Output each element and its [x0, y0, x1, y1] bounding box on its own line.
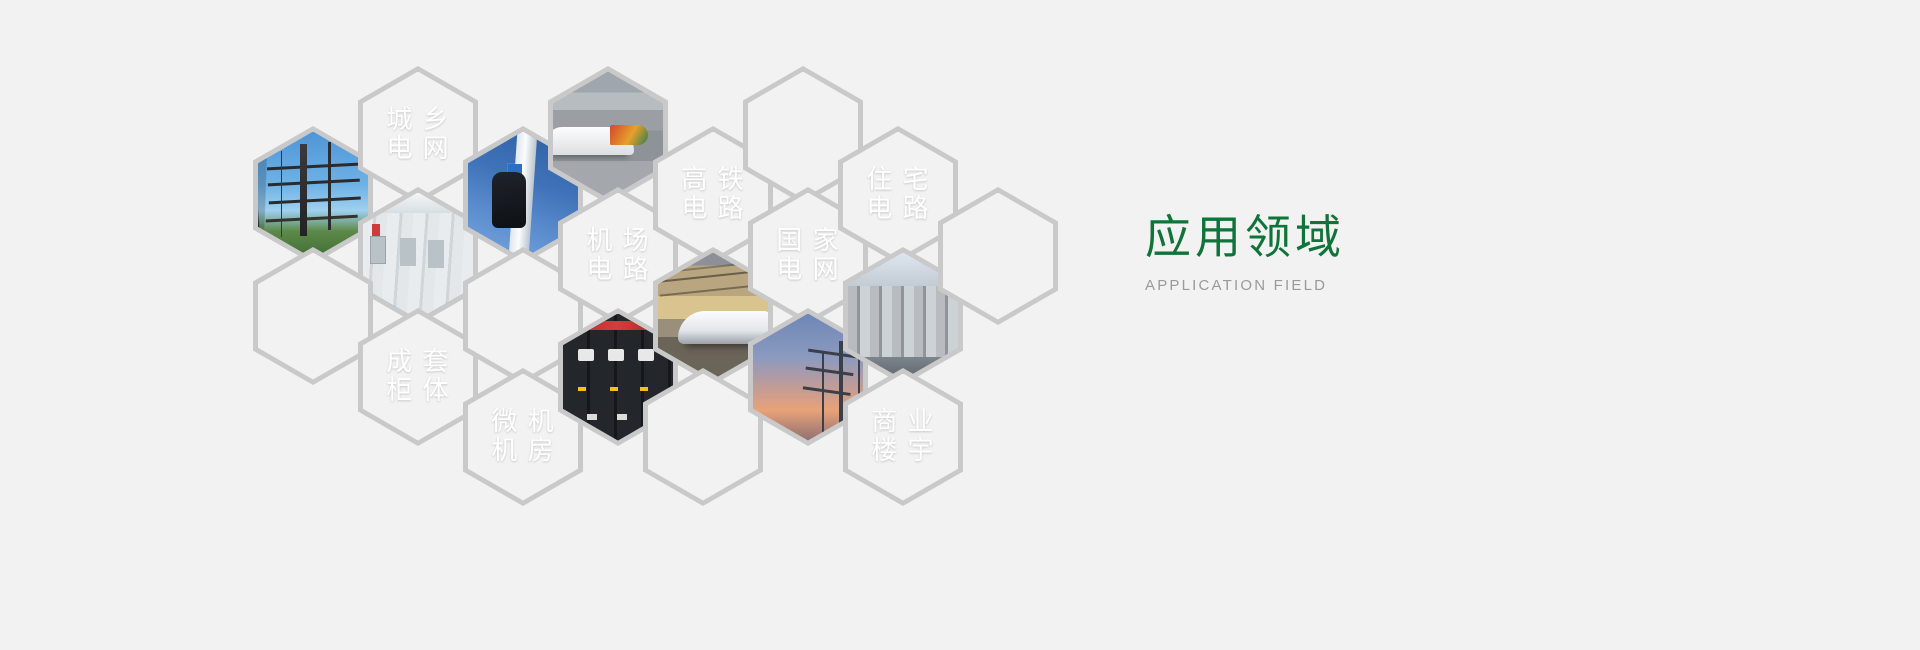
hex-urban-rural-power-grid[interactable]: 城 乡 电 网	[358, 66, 478, 204]
hex-label-computer-machine-room: 微 机 机 房	[491, 408, 554, 466]
hexagon-honeycomb-grid: 城 乡 电 网成 套 柜 体微 机 机 房机 场 电 路高 铁 电 路国 家 电…	[0, 0, 1120, 650]
hex-light-green-hexagon[interactable]	[253, 247, 373, 385]
hex-inner: 商 业 楼 宇	[848, 374, 958, 501]
hex-inner	[363, 193, 473, 320]
application-field-banner: 城 乡 电 网成 套 柜 体微 机 机 房机 场 电 路高 铁 电 路国 家 电…	[0, 0, 1920, 650]
hex-label-high-speed-rail-circuit: 高 铁 电 路	[681, 166, 744, 224]
switchgear-cabinets-photo-image	[363, 193, 473, 320]
hex-label-residential-circuit: 住 宅 电 路	[866, 166, 929, 224]
hex-label-state-power-grid: 国 家 电 网	[776, 227, 839, 285]
page-title: 应用领域	[1145, 212, 1665, 263]
hex-inner	[258, 132, 368, 259]
hex-label-urban-rural-power-grid: 城 乡 电 网	[386, 106, 449, 164]
hex-label-commercial-building: 商 业 楼 宇	[871, 408, 934, 466]
hex-inner	[648, 374, 758, 501]
hex-inner	[943, 193, 1053, 320]
hex-inner: 住 宅 电 路	[843, 132, 953, 259]
hex-inner	[553, 72, 663, 199]
airport-apron-photo-image	[553, 72, 663, 199]
hex-inner: 城 乡 电 网	[363, 72, 473, 199]
utility-pole-photo-image	[258, 132, 368, 259]
page-subtitle: APPLICATION FIELD	[1145, 277, 1665, 294]
hex-switchgear-cabinets-photo[interactable]	[358, 187, 478, 325]
caption-block: 应用领域 APPLICATION FIELD	[1145, 212, 1665, 294]
hex-complete-cabinet-body[interactable]: 成 套 柜 体	[358, 308, 478, 446]
hex-inner: 成 套 柜 体	[363, 314, 473, 441]
hex-utility-pole-photo[interactable]	[253, 126, 373, 264]
hex-label-complete-cabinet-body: 成 套 柜 体	[386, 348, 449, 406]
hex-label-airport-circuit: 机 场 电 路	[586, 227, 649, 285]
hex-inner	[258, 253, 368, 380]
